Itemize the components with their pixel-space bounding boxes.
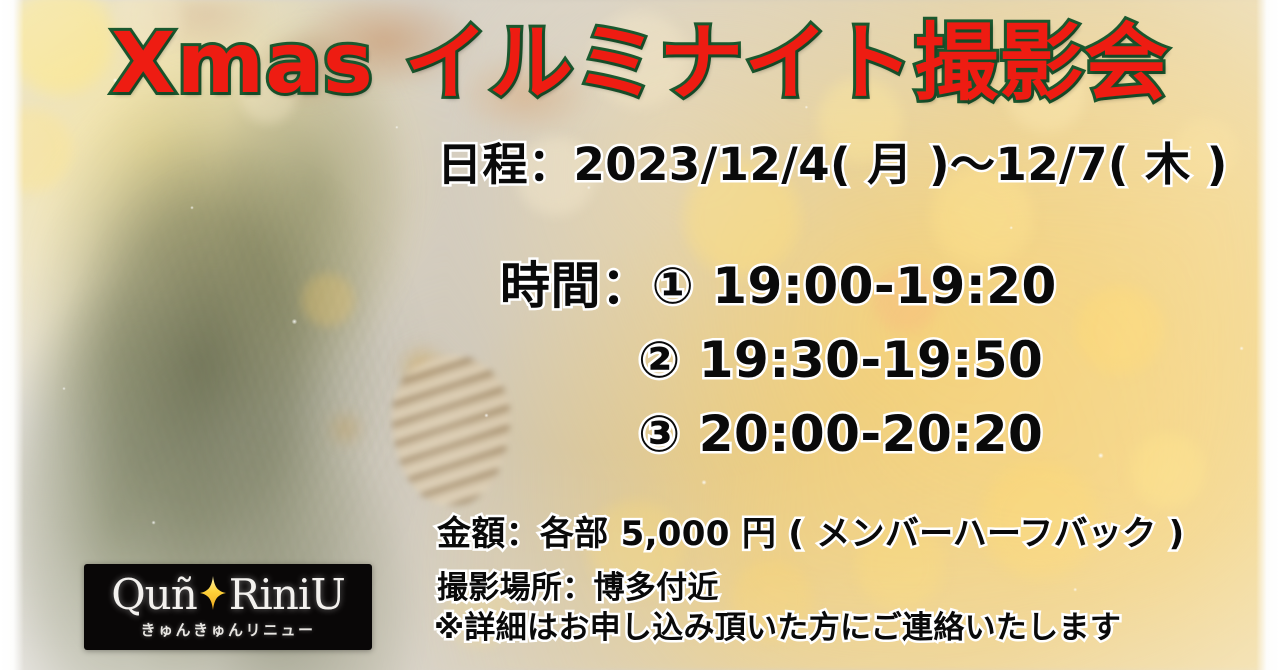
event-time-block: 時間：① 19:00-19:20 ② 19:30-19:50 ③ 20:00-2… xyxy=(500,249,1057,471)
brand-logo: Quñ RiniU きゅんきゅんリニュ xyxy=(84,564,372,650)
brand-logo-subtitle: きゅんきゅんリニュー xyxy=(84,619,372,640)
brand-logo-wordmark: Quñ RiniU xyxy=(84,571,372,619)
poster-canvas: Xmas イルミナイト撮影会 日程：2023/12/4( 月 )～12/7( 木… xyxy=(0,0,1280,670)
four-point-sparkle-icon xyxy=(200,576,226,610)
event-place-line: 撮影場所：博多付近 xyxy=(437,562,719,607)
brand-logo-word-right: RiniU xyxy=(229,574,345,616)
event-time-row-2: ② 19:30-19:50 xyxy=(500,323,1057,397)
event-date-line: 日程：2023/12/4( 月 )～12/7( 木 ) xyxy=(437,141,1228,190)
poster-title: Xmas イルミナイト撮影会 xyxy=(0,16,1280,110)
event-time-row-3: ③ 20:00-20:20 xyxy=(500,397,1057,471)
event-note-line: ※詳細はお申し込み頂いた方にご連絡いたします xyxy=(434,602,1121,647)
event-price-line: 金額：各部 5,000 円 ( メンバーハーフバック ) xyxy=(437,506,1185,555)
brand-logo-word-left: Quñ xyxy=(111,574,197,616)
event-time-row-1: 時間：① 19:00-19:20 xyxy=(500,249,1057,323)
poster-content: Xmas イルミナイト撮影会 日程：2023/12/4( 月 )～12/7( 木… xyxy=(0,0,1280,670)
